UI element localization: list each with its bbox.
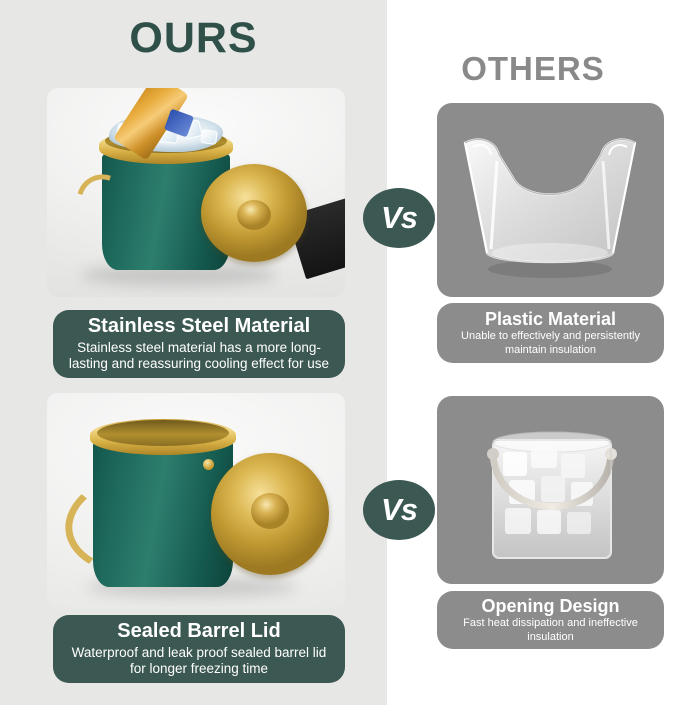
others-caption-1-title: Plastic Material — [485, 309, 616, 329]
ours-heading: OURS — [0, 14, 387, 63]
ours-caption-1-title: Stainless Steel Material — [88, 315, 310, 337]
comparison-infographic: OURS OTHERS — [0, 0, 679, 705]
others-caption-1: Plastic Material Unable to effectively a… — [437, 303, 664, 363]
others-product-image-2 — [437, 396, 664, 584]
others-caption-2: Opening Design Fast heat dissipation and… — [437, 591, 664, 649]
others-product-image-1 — [437, 103, 664, 297]
lid-knob — [251, 493, 289, 529]
ours-product-image-1 — [47, 88, 345, 297]
vs-badge-2: Vs — [363, 480, 435, 540]
handle-rivet — [203, 459, 214, 470]
ours-product-image-2 — [47, 393, 345, 609]
plastic-boat-bucket-illustration — [437, 103, 664, 297]
ours-caption-2-title: Sealed Barrel Lid — [117, 620, 280, 642]
plastic-ice-filled-bucket-illustration — [437, 396, 664, 584]
lid-knob — [237, 200, 271, 230]
bucket-opening — [97, 420, 229, 446]
ours-caption-2-subtitle: Waterproof and leak proof sealed barrel … — [63, 645, 335, 678]
ours-caption-1: Stainless Steel Material Stainless steel… — [53, 310, 345, 378]
others-caption-2-subtitle: Fast heat dissipation and ineffective in… — [447, 617, 654, 644]
vs-badge-1: Vs — [363, 188, 435, 248]
others-heading: OTHERS — [387, 50, 679, 88]
others-caption-2-title: Opening Design — [481, 596, 619, 616]
others-caption-1-subtitle: Unable to effectively and persistently m… — [447, 330, 654, 357]
ice-cube — [200, 129, 218, 145]
ours-caption-1-subtitle: Stainless steel material has a more long… — [63, 340, 335, 373]
ours-caption-2: Sealed Barrel Lid Waterproof and leak pr… — [53, 615, 345, 683]
